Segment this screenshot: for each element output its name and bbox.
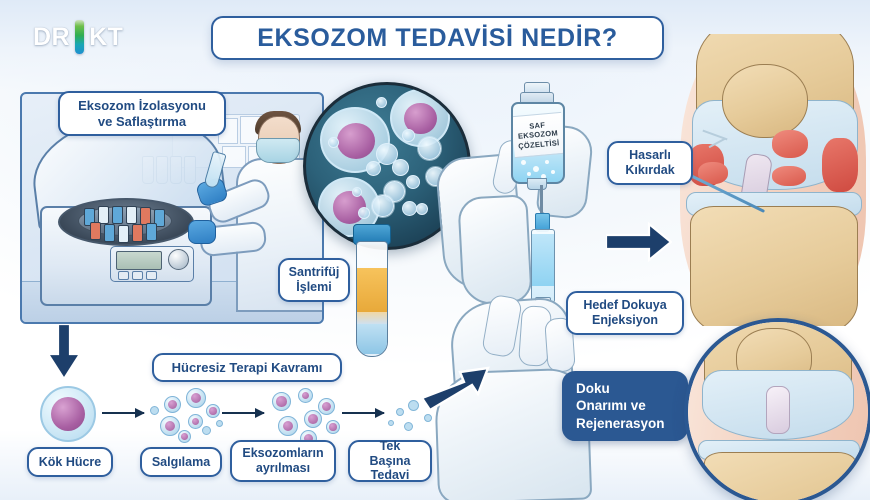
centrifuge-button [118,271,129,280]
exosome-vial: SAF EKSOZOM ÇÖZELTİSİ [508,82,564,188]
exosome-particle [328,137,339,148]
tibia-bone [704,452,856,500]
rotor-vial [132,224,143,242]
tube-glass [356,241,388,357]
centrifuge-button [146,271,157,280]
sequence-arrow-3 [342,412,384,414]
exosome-particle [376,97,387,108]
exosome-process-sequence [26,386,446,442]
cell-illustration [390,89,450,147]
exosome-particle [366,161,381,176]
face-mask-icon [256,138,300,163]
label-damaged-cartilage: Hasarlı Kıkırdak [607,141,693,185]
vial-body: SAF EKSOZOM ÇÖZELTİSİ [511,102,565,184]
brand-logo: DR KT [33,20,123,54]
exosome-particle [418,137,441,160]
label-target-injection: Hedef Dokuya Enjeksiyon [566,291,684,335]
sequence-arrow-2 [222,412,264,414]
rotor-vial [118,225,129,243]
inflammation [822,138,858,192]
label-step-separation: Eksozomların ayrılması [230,440,336,482]
rotor-vial [146,223,157,241]
logo-text-left: DR [33,23,70,52]
centrifuge-display [116,251,162,270]
arrow-down-icon [47,324,81,380]
cartilage-lesion [772,166,806,186]
centrifuge-knob [168,249,189,270]
exosome-particle [402,129,415,142]
vial-label: SAF EKSOZOM ÇÖZELTİSİ [511,112,564,158]
cruciate-ligament [766,386,790,434]
page-title-text: EKSOZOM TEDAVİSİ NEDİR? [257,24,618,53]
syringe-barrel [531,229,555,303]
arrow-right-icon [606,222,672,262]
exosome-particle [352,187,362,197]
sequence-arrow-1 [102,412,144,414]
label-tissue-repair: Doku Onarımı ve Rejenerasyon [562,371,688,441]
cartilage-lesion [772,130,808,158]
label-isolation: Eksozom İzolasyonu ve Saflaştırma [58,91,226,136]
regenerated-knee-joint [684,318,870,500]
stem-cell-icon [40,386,96,442]
tibia-bone [690,206,858,326]
pellet-layer [357,324,387,354]
logo-text-right: KT [89,23,123,52]
rotor-vial [126,206,137,224]
exosome-particle [392,159,409,176]
label-step-stem-cell: Kök Hücre [27,447,113,477]
exosome-particle [406,175,420,189]
label-cellfree-concept: Hücresiz Terapi Kavramı [152,353,342,382]
rotor-vial [90,222,101,240]
centrifuge-button [132,271,143,280]
page-title: EKSOZOM TEDAVİSİ NEDİR? [211,16,664,60]
syringe-fluid [532,234,554,286]
label-step-alone-therapy: Tek Başına Tedavi [348,440,432,482]
exosome-particle [372,195,394,217]
test-tube-icon [75,20,84,54]
patella-bone [722,64,808,138]
damaged-knee-joint [676,34,870,326]
rotor-vial [112,206,123,224]
supernatant-layer [357,268,387,312]
interface-layer [357,312,387,324]
exosome-particle [402,201,417,216]
label-centrifuge: Santrifüj İşlemi [278,258,350,302]
exosome-particle [416,203,428,215]
infographic-canvas: DR KT EKSOZOM TEDAVİSİ NEDİR? [0,0,870,500]
label-step-secretion: Salgılama [140,447,222,477]
centrifuged-test-tube [352,224,390,356]
syringe-needle [540,185,543,215]
gloved-hand [188,220,216,244]
rotor-vial [104,224,115,242]
exosome-particle [358,207,370,219]
